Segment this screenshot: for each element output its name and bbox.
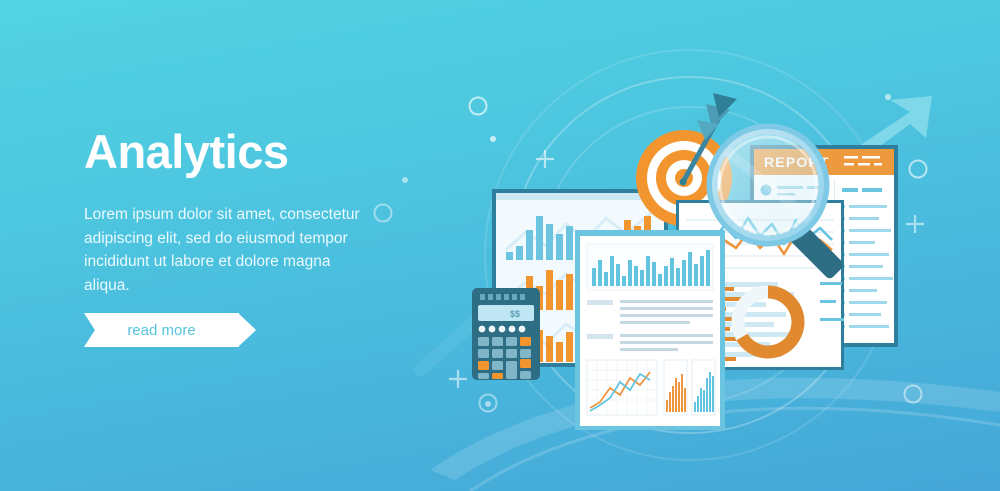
calculator-screen <box>478 305 534 321</box>
description-text: Lorem ipsum dolor sit amet, consectetur … <box>84 203 362 297</box>
banner-stage: Analytics Lorem ipsum dolor sit amet, co… <box>0 0 1000 491</box>
page-title: Analytics <box>84 128 384 175</box>
front-document <box>575 230 725 430</box>
calculator-icon: $$ <box>472 288 540 380</box>
read-more-arrow-tip <box>238 313 256 347</box>
deco-dot-left <box>402 177 408 183</box>
analytics-illustration: REPORT <box>420 60 1000 460</box>
read-more-button[interactable]: read more <box>84 313 239 347</box>
front-doc-line-chart <box>587 360 657 415</box>
calculator-screen-value: $$ <box>510 309 520 319</box>
text-column: Analytics Lorem ipsum dolor sit amet, co… <box>84 128 384 297</box>
